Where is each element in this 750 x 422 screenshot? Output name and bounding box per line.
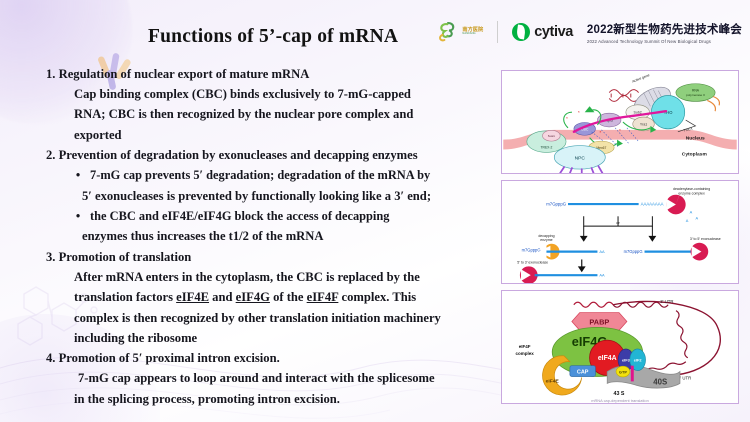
svg-text:*: * bbox=[599, 130, 601, 136]
svg-text:AA: AA bbox=[599, 249, 605, 254]
bullet-marker-icon: • bbox=[74, 165, 82, 185]
label-cap-left: m7GpppG bbox=[522, 248, 541, 253]
summit-title-cn: 2022新型生物药先进技术峰会 bbox=[587, 21, 742, 37]
list-item-paragraph-1-line-2: RNA; CBC is then recognized by the nucle… bbox=[46, 104, 498, 124]
label-exo-3-5: 3′ to 5′ exonuclease bbox=[690, 237, 721, 241]
list-item-bullet-2-2: • the CBC and eIF4E/eIF4G block the acce… bbox=[46, 206, 498, 226]
cytiva-mark-icon bbox=[512, 23, 530, 41]
label-pabp: PABP bbox=[589, 317, 609, 326]
figure-caption: mRNA cap-dependent translation bbox=[591, 398, 649, 403]
svg-text:*: * bbox=[578, 110, 580, 116]
list-item-paragraph-4-line-1: 7-mG cap appears to loop around and inte… bbox=[46, 368, 498, 388]
label-43s: 43 S bbox=[614, 391, 625, 397]
label-gtp: GTP bbox=[619, 370, 627, 375]
label-3utr: 3′ UTR bbox=[660, 299, 673, 304]
label-exo-5-3: 5′ to 3′ exonuclease bbox=[517, 260, 548, 264]
svg-text:AA: AA bbox=[599, 273, 605, 278]
list-item-heading-2: 2. Prevention of degradation by exonucle… bbox=[46, 145, 498, 165]
label-sus1: Sus1 bbox=[548, 134, 555, 138]
label-cytoplasm: Cytoplasm bbox=[682, 151, 708, 157]
logo-divider bbox=[497, 21, 498, 43]
svg-text:*: * bbox=[566, 116, 568, 122]
nuclear-export-diagram: Active gene RNA polymerase II THO Sub2 Y… bbox=[502, 71, 738, 173]
slide-header: Functions of 5’-cap of mRNA 南方医院 NANFANG… bbox=[0, 0, 750, 62]
bullet-text-2-1-line-1: 7-mG cap prevents 5′ degradation; degrad… bbox=[90, 165, 498, 185]
label-deadenylase-2: enzyme complex bbox=[678, 191, 705, 195]
logo-strip: 南方医院 NANFANG cytiva 2022新型生物药先进技术峰会 2022… bbox=[436, 17, 742, 47]
label-trex2: TREX-2 bbox=[541, 145, 553, 149]
label-eif3: eIF3 bbox=[622, 358, 631, 363]
label-eif4f-1: eIF4F bbox=[519, 344, 531, 349]
nanfang-logo-en: NANFANG bbox=[462, 33, 483, 36]
bullet-text-2-2-line-1: the CBC and eIF4E/eIF4G block the access… bbox=[90, 206, 498, 226]
list-item-heading-4: 4. Promotion of 5′ proximal intron excis… bbox=[46, 348, 498, 368]
label-cap-right: m7GpppG bbox=[624, 249, 643, 254]
nanfang-hospital-logo: 南方医院 NANFANG bbox=[436, 21, 483, 43]
label-eif2: eIF2 bbox=[634, 358, 643, 363]
list-item-bullet-2-1: • 7-mG cap prevents 5′ degradation; degr… bbox=[46, 165, 498, 185]
figure-mrna-degradation[interactable]: m7GpppG AAAAAAAA deadenylase-containing … bbox=[501, 180, 739, 284]
summit-title-en: 2022 Advanced Technology Summit Of New B… bbox=[587, 39, 742, 44]
bullet-text-2-1-line-2: 5′ exonucleases is prevented by function… bbox=[46, 186, 498, 206]
cytiva-logo: cytiva bbox=[512, 23, 573, 41]
svg-text:polymerase II: polymerase II bbox=[686, 93, 705, 97]
cytiva-wordmark: cytiva bbox=[534, 24, 573, 40]
list-item-paragraph-3-line-2: translation factors eIF4E and eIF4G of t… bbox=[46, 287, 498, 307]
svg-text:A: A bbox=[690, 209, 693, 214]
figure-nuclear-export[interactable]: Active gene RNA polymerase II THO Sub2 Y… bbox=[501, 70, 739, 174]
page-title: Functions of 5’-cap of mRNA bbox=[148, 26, 398, 48]
slide-canvas: Functions of 5’-cap of mRNA 南方医院 NANFANG… bbox=[0, 0, 750, 422]
list-item-paragraph-3-line-4: including the ribosome bbox=[46, 328, 498, 348]
bullet-text-2-2-line-2: enzymes thus increases the t1/2 of the m… bbox=[46, 226, 498, 246]
bullet-marker-icon: • bbox=[74, 206, 82, 226]
cap-dependent-translation-diagram: 3′ UTR 5′ UTR PABP eIF4G eIF4A eIF4E CAP… bbox=[502, 291, 738, 403]
svg-text:A: A bbox=[686, 218, 689, 223]
nanfang-leaf-icon bbox=[436, 21, 460, 43]
svg-text:A: A bbox=[696, 215, 699, 220]
list-item-paragraph-1-line-3: exported bbox=[46, 125, 498, 145]
list-item-paragraph-3-line-1: After mRNA enters in the cytoplasm, the … bbox=[46, 267, 498, 287]
list-item-heading-1: 1. Regulation of nuclear export of matur… bbox=[46, 64, 498, 84]
label-decapping-2: enzyme bbox=[540, 238, 552, 242]
mrna-degradation-diagram: m7GpppG AAAAAAAA deadenylase-containing … bbox=[502, 181, 738, 283]
label-40s: 40S bbox=[653, 377, 667, 386]
label-eif4e: eIF4E bbox=[546, 378, 560, 384]
list-item-paragraph-1-line-1: Cap binding complex (CBC) binds exclusiv… bbox=[46, 84, 498, 104]
nanfang-logo-text: 南方医院 NANFANG bbox=[462, 28, 483, 36]
list-item-paragraph-3-line-3: complex is then recognized by other tran… bbox=[46, 308, 498, 328]
label-cap-top: m7GpppG bbox=[546, 202, 566, 207]
label-rna-pol: RNA bbox=[692, 89, 700, 93]
summit-title-block: 2022新型生物药先进技术峰会 2022 Advanced Technology… bbox=[587, 21, 742, 44]
figure-cap-dependent-translation[interactable]: 3′ UTR 5′ UTR PABP eIF4G eIF4A eIF4E CAP… bbox=[501, 290, 739, 404]
list-item-heading-3: 3. Promotion of translation bbox=[46, 247, 498, 267]
label-nucleus: Nucleus bbox=[686, 136, 705, 142]
label-deadenylase-1: deadenylase-containing bbox=[673, 187, 710, 191]
label-eif4a: eIF4A bbox=[598, 355, 617, 362]
label-yra1: Yra1 bbox=[640, 122, 647, 126]
svg-text:p: p bbox=[537, 274, 539, 278]
slide-body: 1. Regulation of nuclear export of matur… bbox=[46, 64, 498, 409]
label-cap: CAP bbox=[577, 370, 589, 376]
list-item-paragraph-4-line-2: in the splicing process, promoting intro… bbox=[46, 389, 498, 409]
label-polya-top: AAAAAAAA bbox=[641, 202, 664, 207]
label-npc: NPC bbox=[575, 155, 586, 161]
label-eif4f-2: complex bbox=[516, 351, 535, 356]
